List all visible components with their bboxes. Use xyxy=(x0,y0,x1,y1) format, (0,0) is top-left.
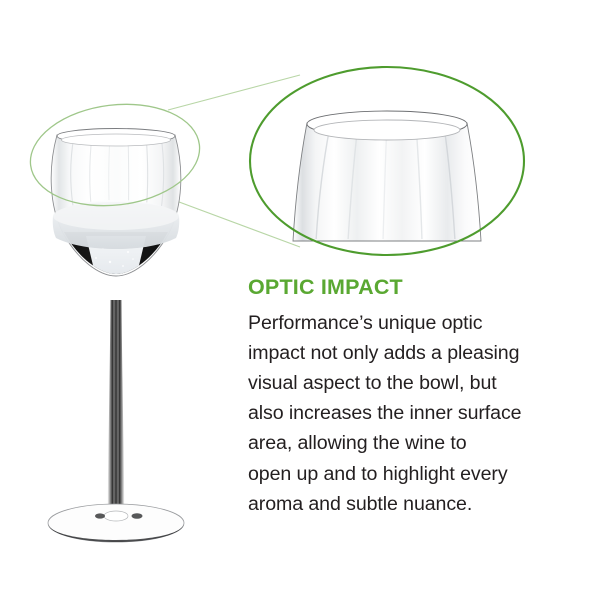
copy-line: aroma and subtle nuance. xyxy=(248,489,588,519)
copy-line: impact not only adds a pleasing xyxy=(248,338,588,368)
callout-connector-lines xyxy=(163,75,300,247)
copy-line: area, allowing the wine to xyxy=(248,428,588,458)
copy-line: open up and to highlight every xyxy=(248,459,588,489)
stem-core xyxy=(115,300,118,512)
feature-text-block: OPTIC IMPACT Performance’s unique optic … xyxy=(248,276,588,519)
magnified-rim xyxy=(307,111,467,140)
glass-base xyxy=(48,504,184,542)
feature-description: Performance’s unique optic impact not on… xyxy=(248,299,588,519)
copy-line: Performance’s unique optic xyxy=(248,308,588,338)
glass-rim xyxy=(57,129,175,147)
wine-glass xyxy=(48,129,184,543)
page-title: OPTIC IMPACT xyxy=(248,276,588,299)
copy-line: also increases the inner surface xyxy=(248,398,588,428)
copy-line: visual aspect to the bowl, but xyxy=(248,368,588,398)
foam-head xyxy=(53,200,180,249)
product-feature-infographic: OPTIC IMPACT Performance’s unique optic … xyxy=(0,0,600,600)
magnified-detail xyxy=(293,111,481,241)
